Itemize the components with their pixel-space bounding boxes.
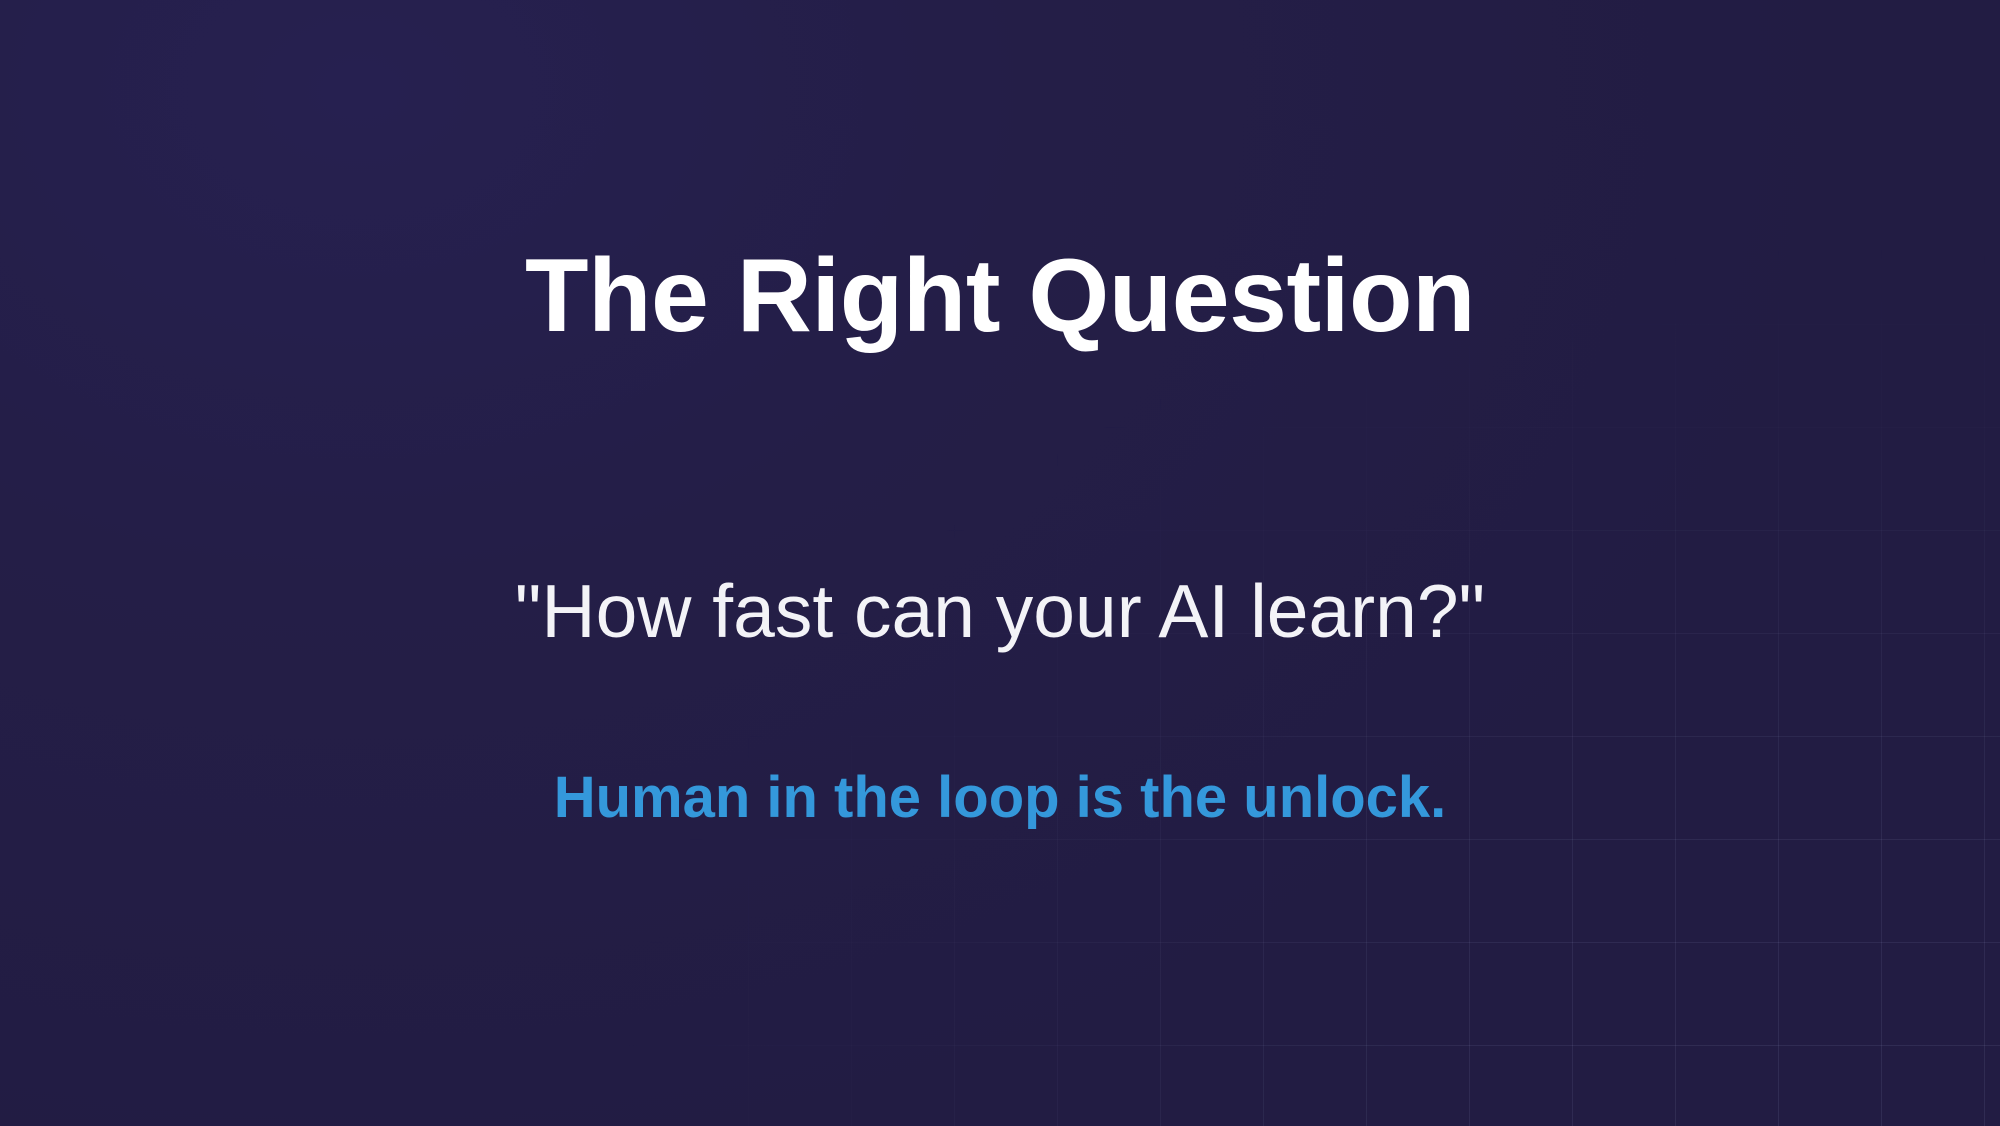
slide-kicker-text: Human in the loop is the unlock. xyxy=(0,766,2000,831)
presentation-slide: The Right Question "How fast can your AI… xyxy=(0,0,2000,1126)
slide-content: The Right Question "How fast can your AI… xyxy=(0,0,2000,1126)
page-title: The Right Question xyxy=(0,238,2000,354)
slide-quote-text: "How fast can your AI learn?" xyxy=(0,569,2000,653)
